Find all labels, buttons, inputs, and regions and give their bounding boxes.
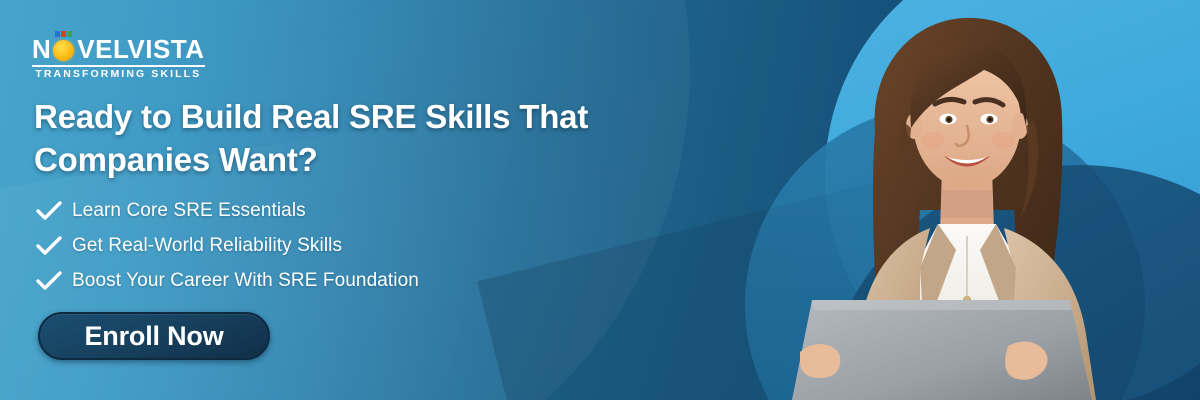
benefit-label: Learn Core SRE Essentials [72,200,306,222]
brand-logo[interactable]: N VELVISTA TRANSFORMING SKILLS [32,36,205,80]
brand-name-part2: VELVISTA [77,36,204,62]
hand-left [800,344,840,378]
benefit-label: Get Real-World Reliability Skills [72,235,342,257]
brand-dot-blue [55,31,60,37]
brand-sun-o [52,37,76,61]
enroll-now-button[interactable]: Enroll Now [38,312,270,360]
page-title: Ready to Build Real SRE Skills That Comp… [34,96,674,182]
promo-banner: N VELVISTA TRANSFORMING SKILLS Ready to … [0,0,1200,400]
brand-divider [32,65,205,67]
neck-shadow [941,190,993,218]
headline-line-2: Companies Want? [34,139,674,182]
laptop [792,300,1092,400]
headline-line-1: Ready to Build Real SRE Skills That [34,96,674,139]
person-image [770,0,1200,400]
check-icon [36,236,72,256]
check-icon [36,271,72,291]
brand-dot-green [67,31,72,37]
benefit-label: Boost Your Career With SRE Foundation [72,270,419,292]
list-item: Learn Core SRE Essentials [36,193,419,228]
brand-wordmark: N VELVISTA [32,36,205,62]
brand-dot-red [61,31,66,37]
benefit-list: Learn Core SRE Essentials Get Real-World… [36,193,419,298]
brand-tagline: TRANSFORMING SKILLS [32,69,205,80]
brand-dots [55,31,72,37]
list-item: Get Real-World Reliability Skills [36,228,419,263]
brand-name-part1: N [32,36,51,62]
check-icon [36,201,72,221]
list-item: Boost Your Career With SRE Foundation [36,263,419,298]
sun-icon [53,40,74,61]
